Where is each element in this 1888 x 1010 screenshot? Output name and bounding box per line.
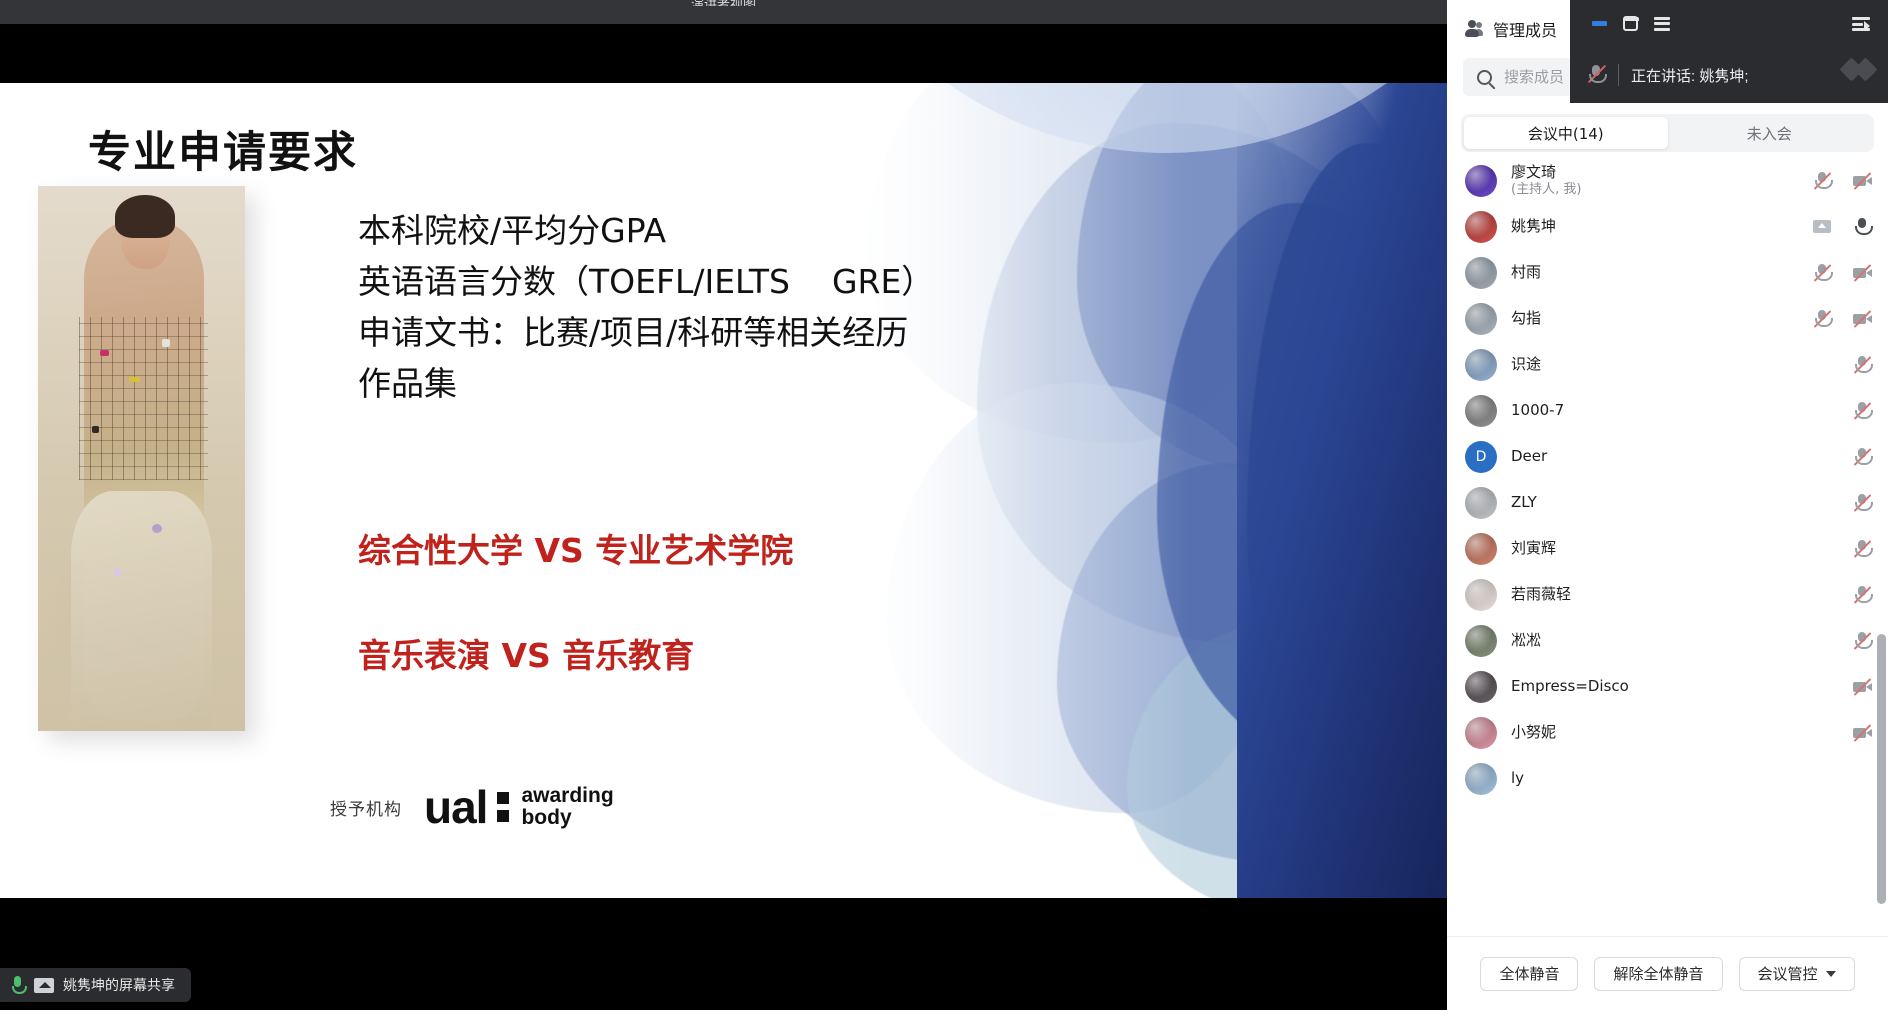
participant-status-icons: [1852, 723, 1872, 743]
camera-off-icon[interactable]: [1852, 263, 1872, 283]
avatar: [1465, 303, 1497, 335]
search-icon: [1477, 70, 1492, 85]
participant-status-icons: [1852, 493, 1872, 513]
mic-active-icon[interactable]: [1852, 217, 1872, 237]
participants-footer: 全体静音 解除全体静音 会议管控: [1447, 936, 1888, 1010]
camera-off-icon[interactable]: [1852, 309, 1872, 329]
slide-photo: [38, 186, 245, 731]
meeting-controls-button[interactable]: 会议管控: [1739, 957, 1855, 991]
menu-icon[interactable]: [1654, 17, 1670, 31]
participant-row[interactable]: 刘寅辉: [1447, 526, 1888, 572]
participant-name-block: ly: [1511, 770, 1858, 787]
tab-in-meeting[interactable]: 会议中(14): [1464, 117, 1668, 149]
stage-top-bar: 演讲者视图: [0, 0, 1447, 24]
participant-row[interactable]: DDeer: [1447, 434, 1888, 480]
ual-logo-colon-icon: [497, 792, 509, 822]
participant-name-block: 村雨: [1511, 264, 1798, 281]
participant-status-icons: [1852, 447, 1872, 467]
participant-row[interactable]: 小努妮: [1447, 710, 1888, 756]
participant-name-block: 勾指: [1511, 310, 1798, 327]
slash-overlay: [1854, 494, 1872, 512]
participant-name-block: 刘寅辉: [1511, 540, 1838, 557]
participant-status-icons: [1852, 677, 1872, 697]
mic-muted-icon: [1586, 64, 1606, 86]
participant-status-icons: [1852, 585, 1872, 605]
participant-name-block: 1000-7: [1511, 402, 1838, 419]
collapse-panel-icon[interactable]: [1852, 17, 1870, 31]
avatar: [1465, 211, 1497, 243]
slide-body-line: 本科院校/平均分GPA: [358, 205, 1058, 256]
mic-muted-icon[interactable]: [1852, 355, 1872, 375]
participant-row[interactable]: 识途: [1447, 342, 1888, 388]
avatar: [1465, 579, 1497, 611]
participant-name-block: 廖文琦(主持人, 我): [1511, 164, 1798, 198]
slash-overlay: [1854, 172, 1872, 190]
ual-logo: ual awarding body: [424, 785, 614, 830]
stage-letterbox-bottom: [0, 898, 1447, 1010]
avatar: [1465, 487, 1497, 519]
participant-name-block: Deer: [1511, 448, 1838, 465]
participant-row[interactable]: 勾指: [1447, 296, 1888, 342]
participant-status-icons: [1812, 309, 1872, 329]
slash-overlay: [1854, 356, 1872, 374]
video-layout-icon: [1846, 61, 1874, 78]
participant-name: ZLY: [1511, 494, 1838, 511]
window-controls: [1592, 16, 1670, 31]
screen-share-label: 姚隽坤的屏幕共享: [63, 975, 175, 995]
participant-name: 村雨: [1511, 264, 1798, 281]
mic-muted-icon[interactable]: [1812, 171, 1832, 191]
avatar: [1465, 671, 1497, 703]
unmute-all-button[interactable]: 解除全体静音: [1594, 957, 1722, 991]
participant-row[interactable]: 凇凇: [1447, 618, 1888, 664]
people-icon: [1463, 20, 1483, 38]
shared-screen-stage: 演讲者视图 专业申请要求: [0, 0, 1447, 1010]
speaking-indicator: 正在讲话: 姚隽坤;: [1570, 47, 1888, 103]
slash-overlay: [1854, 586, 1872, 604]
participants-tabs: 会议中(14) 未入会: [1461, 114, 1874, 152]
participant-row[interactable]: 姚隽坤: [1447, 204, 1888, 250]
participants-panel: 管理成员 会议中(14) 未入会 廖文琦(主持人, 我)姚隽坤村雨勾指识途100…: [1447, 0, 1888, 1010]
camera-off-icon[interactable]: [1852, 677, 1872, 697]
ual-logo-sub-line1: awarding: [521, 785, 613, 808]
mic-muted-icon[interactable]: [1812, 263, 1832, 283]
minimize-icon[interactable]: [1592, 21, 1607, 26]
participant-row[interactable]: 村雨: [1447, 250, 1888, 296]
avatar: [1465, 165, 1497, 197]
microphone-icon: [10, 976, 25, 995]
participant-row[interactable]: ly: [1447, 756, 1888, 802]
slide-red-line: 综合性大学 VS 专业艺术学院: [358, 531, 1118, 571]
slash-overlay: [1814, 264, 1832, 282]
slash-overlay: [1854, 724, 1872, 742]
panel-title: 管理成员: [1493, 17, 1557, 41]
slash-overlay: [1854, 448, 1872, 466]
mute-all-button[interactable]: 全体静音: [1480, 957, 1578, 991]
participant-status-icons: [1852, 631, 1872, 651]
slash-overlay: [1854, 540, 1872, 558]
slide-red-line: 音乐表演 VS 音乐教育: [358, 636, 1118, 676]
camera-off-icon[interactable]: [1852, 171, 1872, 191]
participant-status-icons: [1812, 217, 1872, 237]
slide-body-text: 本科院校/平均分GPA 英语语言分数（TOEFL/IELTS GRE） 申请文书…: [358, 205, 1058, 410]
participant-name: 1000-7: [1511, 402, 1838, 419]
ual-logo-wordmark: ual: [424, 787, 487, 828]
participant-name-block: 小努妮: [1511, 724, 1838, 741]
avatar: [1465, 257, 1497, 289]
mic-muted-icon[interactable]: [1812, 309, 1832, 329]
avatar: [1465, 763, 1497, 795]
avatar: [1465, 717, 1497, 749]
participant-status-icons: [1812, 263, 1872, 283]
screen-share-banner: 姚隽坤的屏幕共享: [0, 968, 191, 1002]
awarding-body-label: 授予机构: [330, 795, 402, 820]
slash-overlay: [1854, 264, 1872, 282]
meeting-controls-label: 会议管控: [1758, 963, 1818, 984]
participant-role: (主持人, 我): [1511, 182, 1798, 198]
avatar: [1465, 533, 1497, 565]
slash-overlay: [1814, 310, 1832, 328]
participant-name: 凇凇: [1511, 632, 1838, 649]
participant-status-icons: [1852, 539, 1872, 559]
mic-muted-icon[interactable]: [1852, 493, 1872, 513]
participant-name-block: Empress=Disco: [1511, 678, 1838, 695]
speaking-label: 正在讲话: 姚隽坤;: [1631, 65, 1749, 86]
avatar: D: [1465, 441, 1497, 473]
participants-list[interactable]: 廖文琦(主持人, 我)姚隽坤村雨勾指识途1000-7DDeerZLY刘寅辉若雨薇…: [1447, 152, 1888, 936]
participant-name-block: ZLY: [1511, 494, 1838, 511]
mic-muted-icon[interactable]: [1852, 401, 1872, 421]
avatar: [1465, 625, 1497, 657]
mic-muted-icon[interactable]: [1852, 631, 1872, 651]
participant-name-block: 姚隽坤: [1511, 218, 1798, 235]
participant-name-block: 凇凇: [1511, 632, 1838, 649]
ual-logo-sub-line2: body: [521, 807, 613, 830]
window-chrome-bar: 正在讲话: 姚隽坤;: [1570, 0, 1888, 103]
slash-overlay: [1854, 678, 1872, 696]
mic-muted-icon[interactable]: [1852, 539, 1872, 559]
participant-name: 若雨薇轻: [1511, 586, 1838, 603]
mic-muted-icon[interactable]: [1852, 447, 1872, 467]
participant-row[interactable]: Empress=Disco: [1447, 664, 1888, 710]
screen-share-icon: [34, 978, 54, 993]
maximize-icon[interactable]: [1623, 16, 1638, 31]
camera-off-icon[interactable]: [1852, 723, 1872, 743]
participant-row[interactable]: 廖文琦(主持人, 我): [1447, 158, 1888, 204]
slide-body-line: 作品集: [358, 358, 1058, 409]
participant-name-block: 识途: [1511, 356, 1838, 373]
participants-scrollbar[interactable]: [1877, 634, 1886, 904]
slash-overlay: [1854, 402, 1872, 420]
screen-share-icon[interactable]: [1812, 217, 1832, 237]
tab-not-joined[interactable]: 未入会: [1668, 117, 1872, 149]
participant-status-icons: [1852, 401, 1872, 421]
slide-body-line: 申请文书：比赛/项目/科研等相关经历: [358, 307, 1058, 358]
meeting-window: 演讲者视图 专业申请要求: [0, 0, 1888, 1010]
avatar: [1465, 395, 1497, 427]
avatar: [1465, 349, 1497, 381]
participant-name: Empress=Disco: [1511, 678, 1838, 695]
slash-overlay: [1854, 310, 1872, 328]
participant-name: 小努妮: [1511, 724, 1838, 741]
mic-muted-icon[interactable]: [1852, 585, 1872, 605]
participant-row[interactable]: ZLY: [1447, 480, 1888, 526]
participant-row[interactable]: 若雨薇轻: [1447, 572, 1888, 618]
slide-highlight-text: 综合性大学 VS 专业艺术学院 音乐表演 VS 音乐教育: [358, 531, 1118, 675]
slide-footer: 授予机构 ual awarding body: [330, 785, 614, 830]
participant-name: 廖文琦: [1511, 164, 1798, 181]
slide-title: 专业申请要求: [88, 118, 358, 180]
participant-name: 勾指: [1511, 310, 1798, 327]
participant-name: 姚隽坤: [1511, 218, 1798, 235]
participant-status-icons: [1812, 171, 1872, 191]
participant-name: 刘寅辉: [1511, 540, 1838, 557]
participant-name: ly: [1511, 770, 1858, 787]
participant-name: 识途: [1511, 356, 1838, 373]
divider: [1618, 64, 1619, 86]
stage-top-strip-label: 演讲者视图: [0, 0, 1447, 6]
slash-overlay: [1854, 632, 1872, 650]
presentation-slide: 专业申请要求 本科院校/平均分GPA 英语语言分数（TOEFL/IELTS GR…: [0, 83, 1447, 898]
participant-name-block: 若雨薇轻: [1511, 586, 1838, 603]
participant-status-icons: [1852, 355, 1872, 375]
stage-letterbox-top: [0, 24, 1447, 82]
chevron-down-icon: [1826, 971, 1836, 977]
participant-row[interactable]: 1000-7: [1447, 388, 1888, 434]
participant-name: Deer: [1511, 448, 1838, 465]
slash-overlay: [1814, 172, 1832, 190]
slide-body-line: 英语语言分数（TOEFL/IELTS GRE）: [358, 256, 1058, 307]
